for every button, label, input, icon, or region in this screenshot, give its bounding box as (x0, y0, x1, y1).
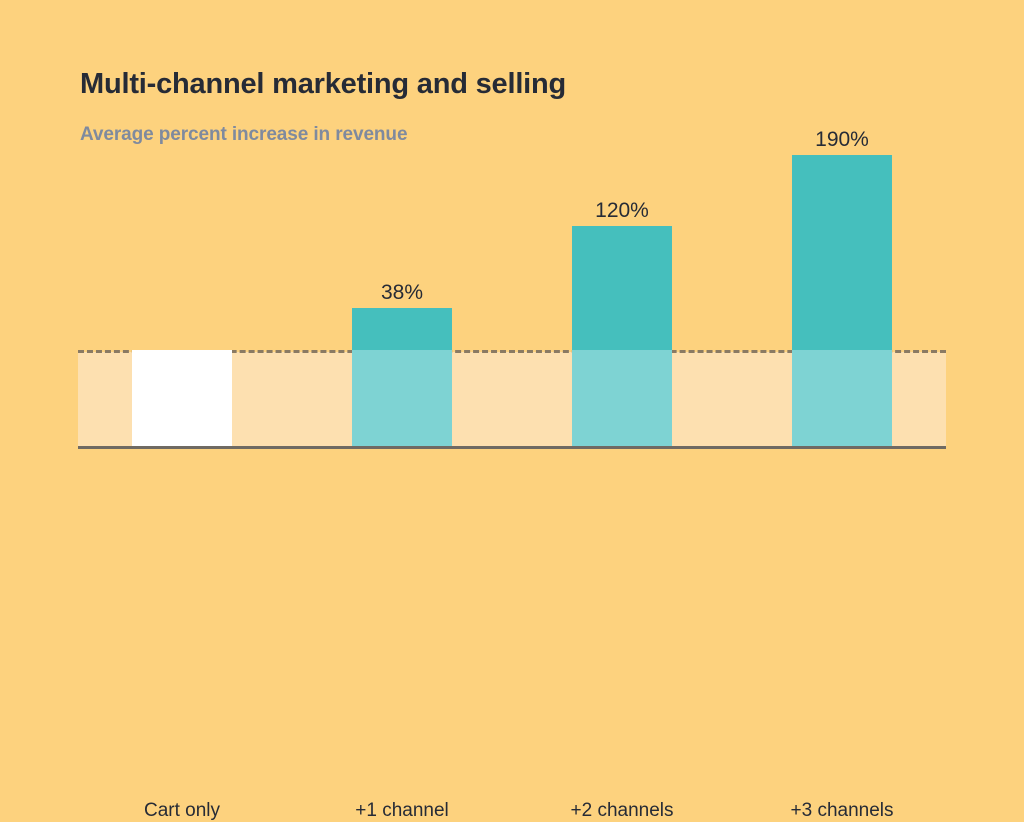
bar-category-label: +2 channels (532, 800, 712, 822)
bar-category-label: +1 channel (312, 800, 492, 822)
bar-segment-below-baseline[interactable] (572, 350, 672, 446)
x-axis-line (78, 446, 946, 449)
bar-category-label: +3 channels (752, 800, 932, 822)
bar-segment-below-baseline[interactable] (792, 350, 892, 446)
bar-value-label: 38% (322, 281, 482, 305)
bar-segment-above-baseline[interactable] (352, 308, 452, 350)
bar-value-label: 120% (542, 199, 702, 223)
bar-segment-above-baseline[interactable] (572, 226, 672, 350)
bar-value-label: 190% (762, 128, 922, 152)
bar-segment-above-baseline[interactable] (792, 155, 892, 350)
bar-segment-below-baseline[interactable] (132, 350, 232, 446)
chart-figure: Multi-channel marketing and selling Aver… (0, 0, 1024, 512)
page-title: Multi-channel marketing and selling (80, 68, 566, 101)
bar-category-label: Cart only (92, 800, 272, 822)
bar-segment-below-baseline[interactable] (352, 350, 452, 446)
plot-area: Cart only 38% +1 channel 120% +2 channel… (78, 100, 946, 448)
